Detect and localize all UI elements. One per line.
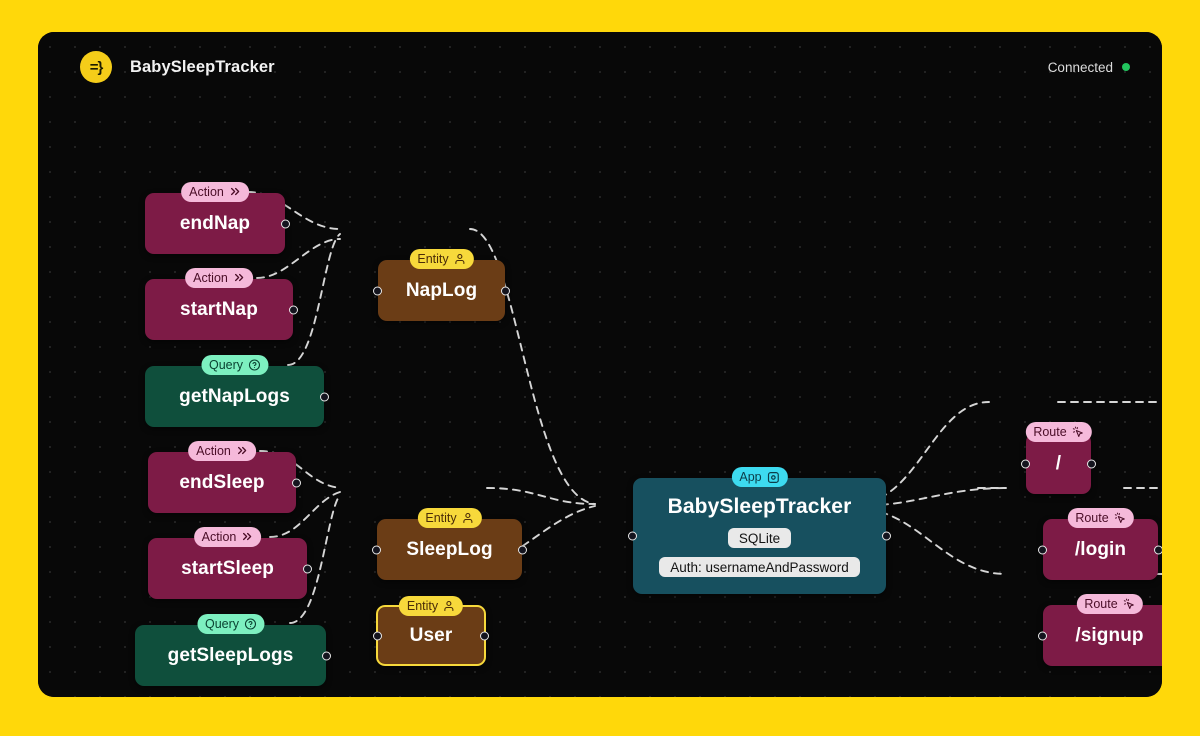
user-icon bbox=[462, 512, 474, 524]
yellow-frame: =} BabySleepTracker Connected Action end… bbox=[0, 0, 1200, 736]
node-handle-left[interactable] bbox=[628, 532, 637, 541]
badge-label: Query bbox=[205, 617, 239, 631]
auth-pill: Auth: usernameAndPassword bbox=[659, 557, 860, 577]
node-badge-entity: Entity bbox=[399, 596, 463, 616]
node-label: startSleep bbox=[181, 558, 274, 580]
node-User[interactable]: Entity User bbox=[376, 605, 486, 666]
badge-label: Route bbox=[1075, 511, 1108, 525]
node-handle-right[interactable] bbox=[518, 545, 527, 554]
node-label: /signup bbox=[1075, 625, 1143, 647]
database-pill: SQLite bbox=[728, 528, 791, 548]
question-circle-icon bbox=[244, 618, 256, 630]
node-handle-right[interactable] bbox=[281, 219, 290, 228]
node-badge-route: Route bbox=[1025, 422, 1091, 442]
node-badge-query: Query bbox=[201, 355, 268, 375]
node-handle-right[interactable] bbox=[1154, 545, 1162, 554]
node-endNap[interactable]: Action endNap bbox=[145, 193, 285, 254]
node-handle-right[interactable] bbox=[289, 305, 298, 314]
node-BabySleepTracker-app[interactable]: App BabySleepTracker SQLite Auth: userna… bbox=[633, 478, 886, 594]
app-panel: =} BabySleepTracker Connected Action end… bbox=[38, 32, 1162, 697]
node-label: endNap bbox=[180, 213, 250, 235]
node-label: / bbox=[1056, 453, 1061, 475]
node-badge-action: Action bbox=[188, 441, 256, 461]
node-badge-app: App bbox=[731, 467, 787, 487]
node-route-signup[interactable]: Route /signup bbox=[1043, 605, 1162, 666]
node-badge-route: Route bbox=[1076, 594, 1142, 614]
node-handle-right[interactable] bbox=[1087, 459, 1096, 468]
status-label: Connected bbox=[1048, 60, 1113, 75]
chevrons-right-icon bbox=[233, 272, 245, 284]
logo-glyph: =} bbox=[90, 59, 103, 76]
node-getNapLogs[interactable]: Query getNapLogs bbox=[145, 366, 324, 427]
app-header: =} BabySleepTracker Connected bbox=[38, 32, 1162, 102]
node-endSleep[interactable]: Action endSleep bbox=[148, 452, 296, 513]
badge-label: Action bbox=[193, 271, 228, 285]
node-label: endSleep bbox=[179, 472, 264, 494]
node-handle-right[interactable] bbox=[320, 392, 329, 401]
badge-label: Entity bbox=[417, 252, 448, 266]
node-handle-right[interactable] bbox=[882, 532, 891, 541]
app-square-icon bbox=[767, 471, 780, 484]
node-handle-right[interactable] bbox=[292, 478, 301, 487]
chevrons-right-icon bbox=[241, 531, 253, 543]
node-label: SleepLog bbox=[406, 539, 492, 561]
node-label: getSleepLogs bbox=[168, 645, 294, 667]
node-badge-action: Action bbox=[185, 268, 253, 288]
wasp-logo-icon: =} bbox=[80, 51, 112, 83]
node-startSleep[interactable]: Action startSleep bbox=[148, 538, 307, 599]
node-handle-right[interactable] bbox=[501, 286, 510, 295]
node-NapLog[interactable]: Entity NapLog bbox=[378, 260, 505, 321]
badge-label: Action bbox=[189, 185, 224, 199]
node-label: startNap bbox=[180, 299, 258, 321]
node-handle-left[interactable] bbox=[1038, 545, 1047, 554]
connection-status: Connected bbox=[1048, 60, 1130, 75]
badge-label: Route bbox=[1084, 597, 1117, 611]
badge-label: Entity bbox=[425, 511, 456, 525]
node-startNap[interactable]: Action startNap bbox=[145, 279, 293, 340]
page-title: BabySleepTracker bbox=[130, 58, 275, 77]
node-handle-left[interactable] bbox=[373, 631, 382, 640]
node-label: User bbox=[410, 625, 453, 647]
node-route-root[interactable]: Route / bbox=[1026, 433, 1091, 494]
node-handle-left[interactable] bbox=[372, 545, 381, 554]
badge-label: Query bbox=[209, 358, 243, 372]
badge-label: Entity bbox=[407, 599, 438, 613]
node-route-login[interactable]: Route /login bbox=[1043, 519, 1158, 580]
status-dot-icon bbox=[1122, 63, 1130, 71]
question-circle-icon bbox=[248, 359, 260, 371]
node-SleepLog[interactable]: Entity SleepLog bbox=[377, 519, 522, 580]
badge-label: App bbox=[739, 470, 761, 484]
user-icon bbox=[443, 600, 455, 612]
node-badge-action: Action bbox=[181, 182, 249, 202]
user-icon bbox=[454, 253, 466, 265]
badge-label: Action bbox=[202, 530, 237, 544]
badge-label: Action bbox=[196, 444, 231, 458]
node-getSleepLogs[interactable]: Query getSleepLogs bbox=[135, 625, 326, 686]
node-label: getNapLogs bbox=[179, 386, 290, 408]
cursor-click-icon bbox=[1123, 598, 1135, 610]
cursor-click-icon bbox=[1072, 426, 1084, 438]
cursor-click-icon bbox=[1114, 512, 1126, 524]
node-label: NapLog bbox=[406, 280, 477, 302]
node-badge-route: Route bbox=[1067, 508, 1133, 528]
node-handle-left[interactable] bbox=[1021, 459, 1030, 468]
node-badge-entity: Entity bbox=[409, 249, 473, 269]
badge-label: Route bbox=[1033, 425, 1066, 439]
node-badge-query: Query bbox=[197, 614, 264, 634]
node-handle-left[interactable] bbox=[373, 286, 382, 295]
node-handle-right[interactable] bbox=[480, 631, 489, 640]
chevrons-right-icon bbox=[229, 186, 241, 198]
node-label: /login bbox=[1075, 539, 1126, 561]
node-label: BabySleepTracker bbox=[668, 495, 852, 519]
node-handle-right[interactable] bbox=[322, 651, 331, 660]
chevrons-right-icon bbox=[236, 445, 248, 457]
node-handle-right[interactable] bbox=[303, 564, 312, 573]
node-handle-left[interactable] bbox=[1038, 631, 1047, 640]
node-badge-action: Action bbox=[194, 527, 262, 547]
node-badge-entity: Entity bbox=[417, 508, 481, 528]
